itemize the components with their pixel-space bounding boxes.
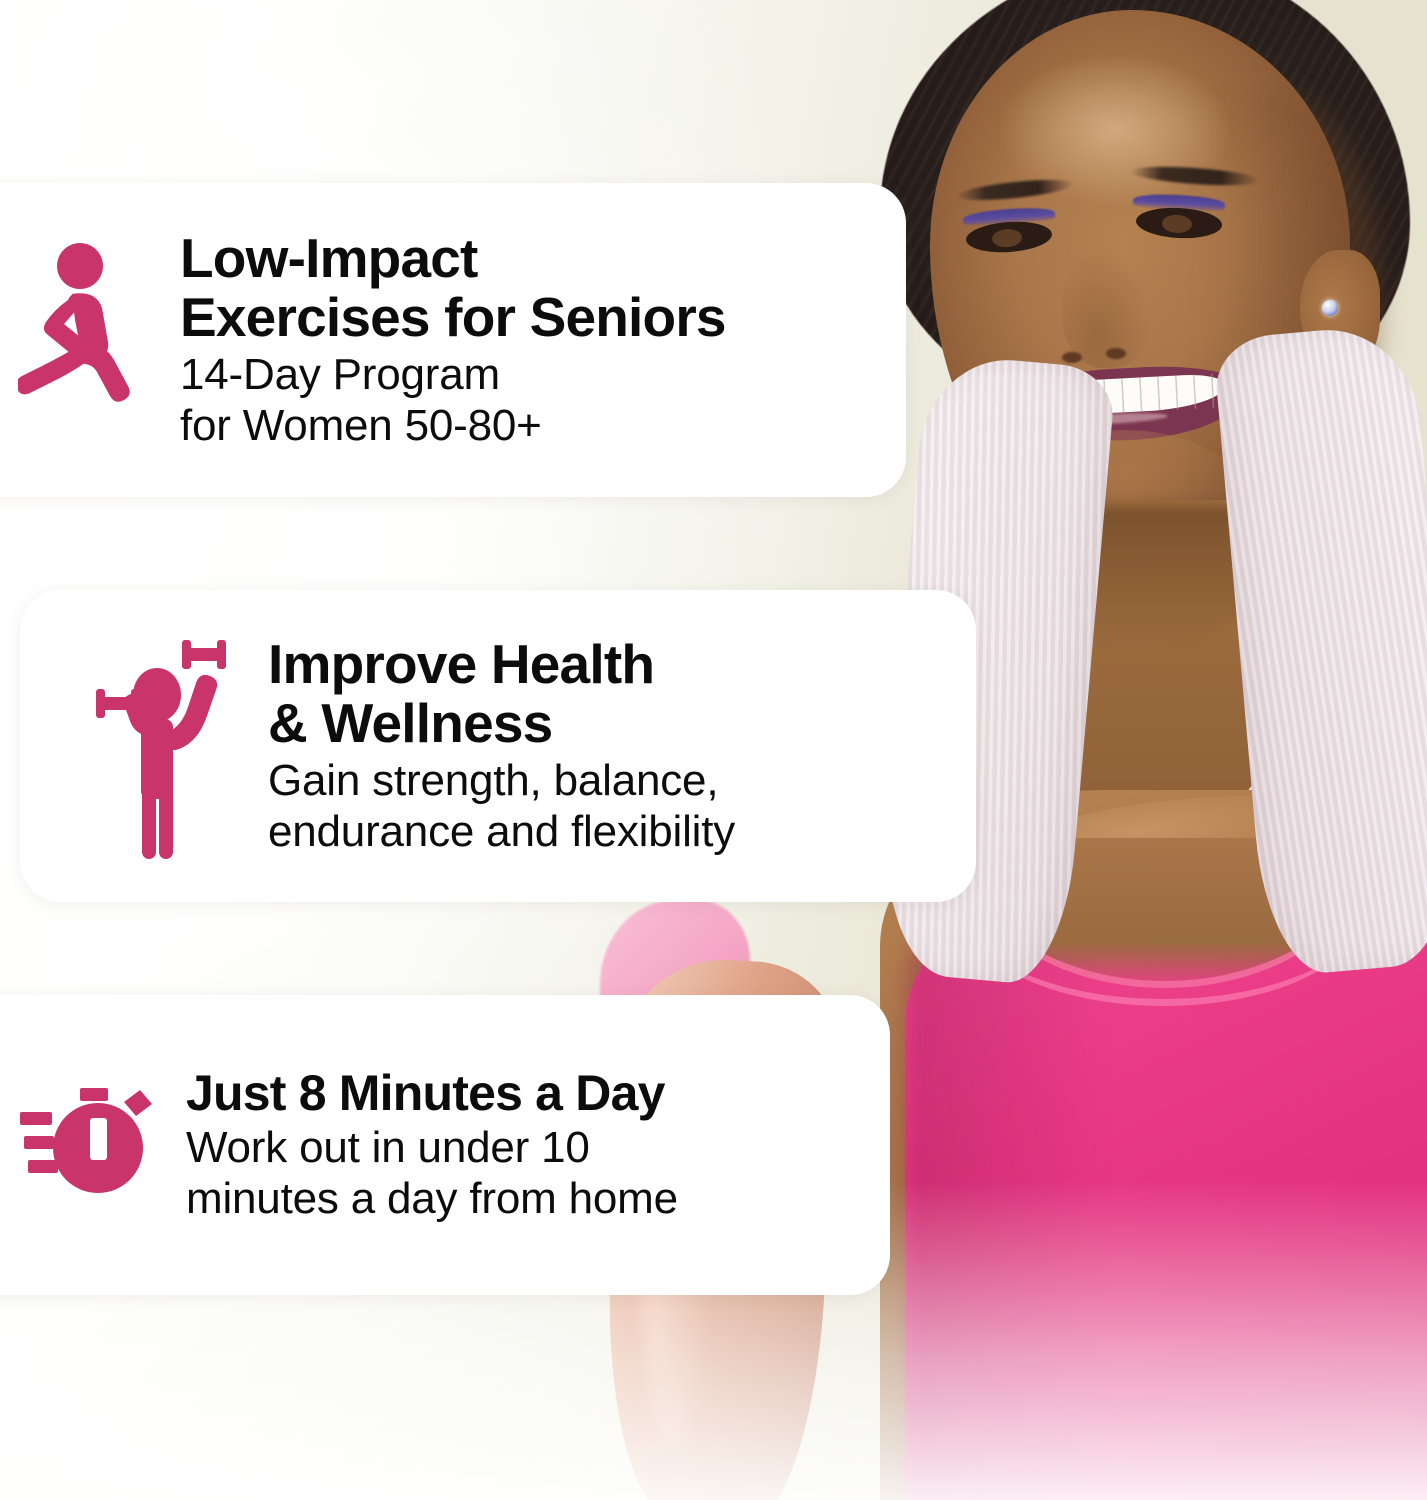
card-subtitle-line: for Women 50-80+ [180,400,906,451]
card-title-line: Low-Impact [180,229,906,288]
card-subtitle-line: 14-Day Program [180,349,906,400]
running-person-icon [18,240,140,440]
stopwatch-icon [18,1086,158,1204]
feature-card-low-impact[interactable]: Low-Impact Exercises for Seniors 14-Day … [0,183,906,497]
card-subtitle: 14-Day Program for Women 50-80+ [180,349,906,451]
dumbbell-lift-person-icon [86,631,236,861]
card-subtitle-line: Work out in under 10 [186,1122,890,1173]
feature-card-improve-health[interactable]: Improve Health & Wellness Gain strength,… [20,590,976,902]
card-text-block: Improve Health & Wellness Gain strength,… [264,635,976,858]
card-title-line: Just 8 Minutes a Day [186,1066,890,1120]
card-title: Improve Health & Wellness [268,635,976,754]
card-title: Low-Impact Exercises for Seniors [180,229,906,348]
card-title-line: Improve Health [268,635,976,694]
card-subtitle: Work out in under 10 minutes a day from … [186,1122,890,1224]
card-subtitle: Gain strength, balance, endurance and fl… [268,755,976,857]
card-text-block: Low-Impact Exercises for Seniors 14-Day … [180,229,906,452]
card-subtitle-line: Gain strength, balance, [268,755,976,806]
card-subtitle-line: minutes a day from home [186,1173,890,1224]
card-title-line: & Wellness [268,694,976,753]
card-title: Just 8 Minutes a Day [186,1066,890,1120]
promo-banner: Low-Impact Exercises for Seniors 14-Day … [0,0,1427,1500]
feature-card-eight-minutes[interactable]: Just 8 Minutes a Day Work out in under 1… [0,995,890,1295]
card-title-line: Exercises for Seniors [180,288,906,347]
card-subtitle-line: endurance and flexibility [268,806,976,857]
card-text-block: Just 8 Minutes a Day Work out in under 1… [186,1066,890,1224]
